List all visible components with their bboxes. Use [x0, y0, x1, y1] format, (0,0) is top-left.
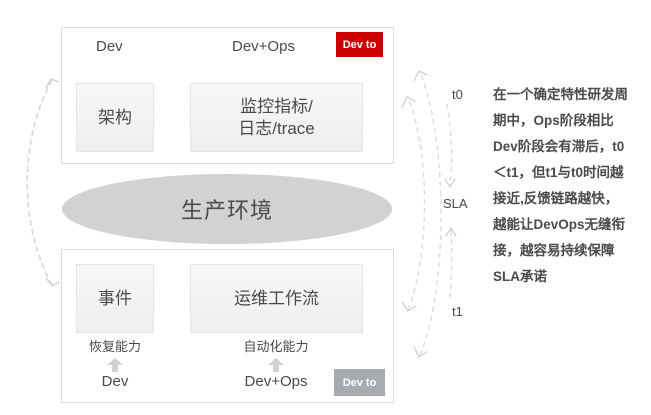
capability-role-devops: Dev+Ops: [245, 373, 308, 390]
card-event[interactable]: 事件: [76, 264, 154, 333]
time-marker-t0: t0: [452, 87, 463, 102]
arrowhead-left-top: [46, 79, 59, 88]
capability-stack-recovery: 恢复能力 Dev: [55, 336, 175, 390]
arrowhead-right-outer-top: [414, 71, 427, 81]
card-monitoring-line1: 监控指标/: [238, 96, 315, 117]
up-arrow-icon: [107, 358, 123, 372]
arrow-t1-to-sla-path: [450, 228, 452, 298]
top-label-dev: Dev: [96, 38, 123, 55]
card-monitoring[interactable]: 监控指标/ 日志/trace: [190, 83, 363, 152]
badge-dev-to-red[interactable]: Dev to: [336, 32, 383, 57]
time-marker-t1: t1: [452, 304, 463, 319]
arrowhead-right-outer-bottom: [414, 347, 427, 357]
arrowhead-t1-up: [446, 228, 456, 236]
capability-role-dev: Dev: [102, 373, 129, 390]
arrow-left-up-path: [27, 80, 52, 285]
time-marker-sla: SLA: [443, 196, 468, 211]
card-ops-workflow[interactable]: 运维工作流: [190, 264, 363, 333]
capability-title-recovery: 恢复能力: [89, 336, 141, 355]
arrow-right-inner-path: [408, 98, 425, 310]
card-monitoring-line2: 日志/trace: [238, 118, 315, 139]
capability-stack-automation: 自动化能力 Dev+Ops: [216, 336, 336, 390]
up-arrow-icon: [268, 358, 284, 372]
arrowhead-right-inner-top: [402, 97, 415, 107]
diagram-canvas: Dev Dev+Ops Dev to 架构 监控指标/ 日志/trace 生产环…: [0, 0, 651, 415]
badge-dev-to-gray[interactable]: Dev to: [334, 369, 385, 396]
card-architecture[interactable]: 架构: [76, 83, 154, 152]
arrow-left-down-path: [27, 80, 52, 285]
arrow-right-outer-path: [420, 72, 441, 355]
arrowhead-left-bottom: [46, 278, 59, 286]
top-label-devops: Dev+Ops: [232, 38, 295, 55]
explanation-note: 在一个确定特性研发周期中，Ops阶段相比Dev阶段会有滞后，t0＜t1，但t1与…: [493, 82, 628, 290]
capability-title-automation: 自动化能力: [243, 336, 308, 355]
arrowhead-t0-down: [445, 179, 455, 187]
arrow-t0-to-sla-path: [447, 104, 452, 185]
production-environment-ellipse: 生产环境: [62, 174, 392, 244]
arrowhead-right-inner-bottom: [402, 302, 416, 311]
